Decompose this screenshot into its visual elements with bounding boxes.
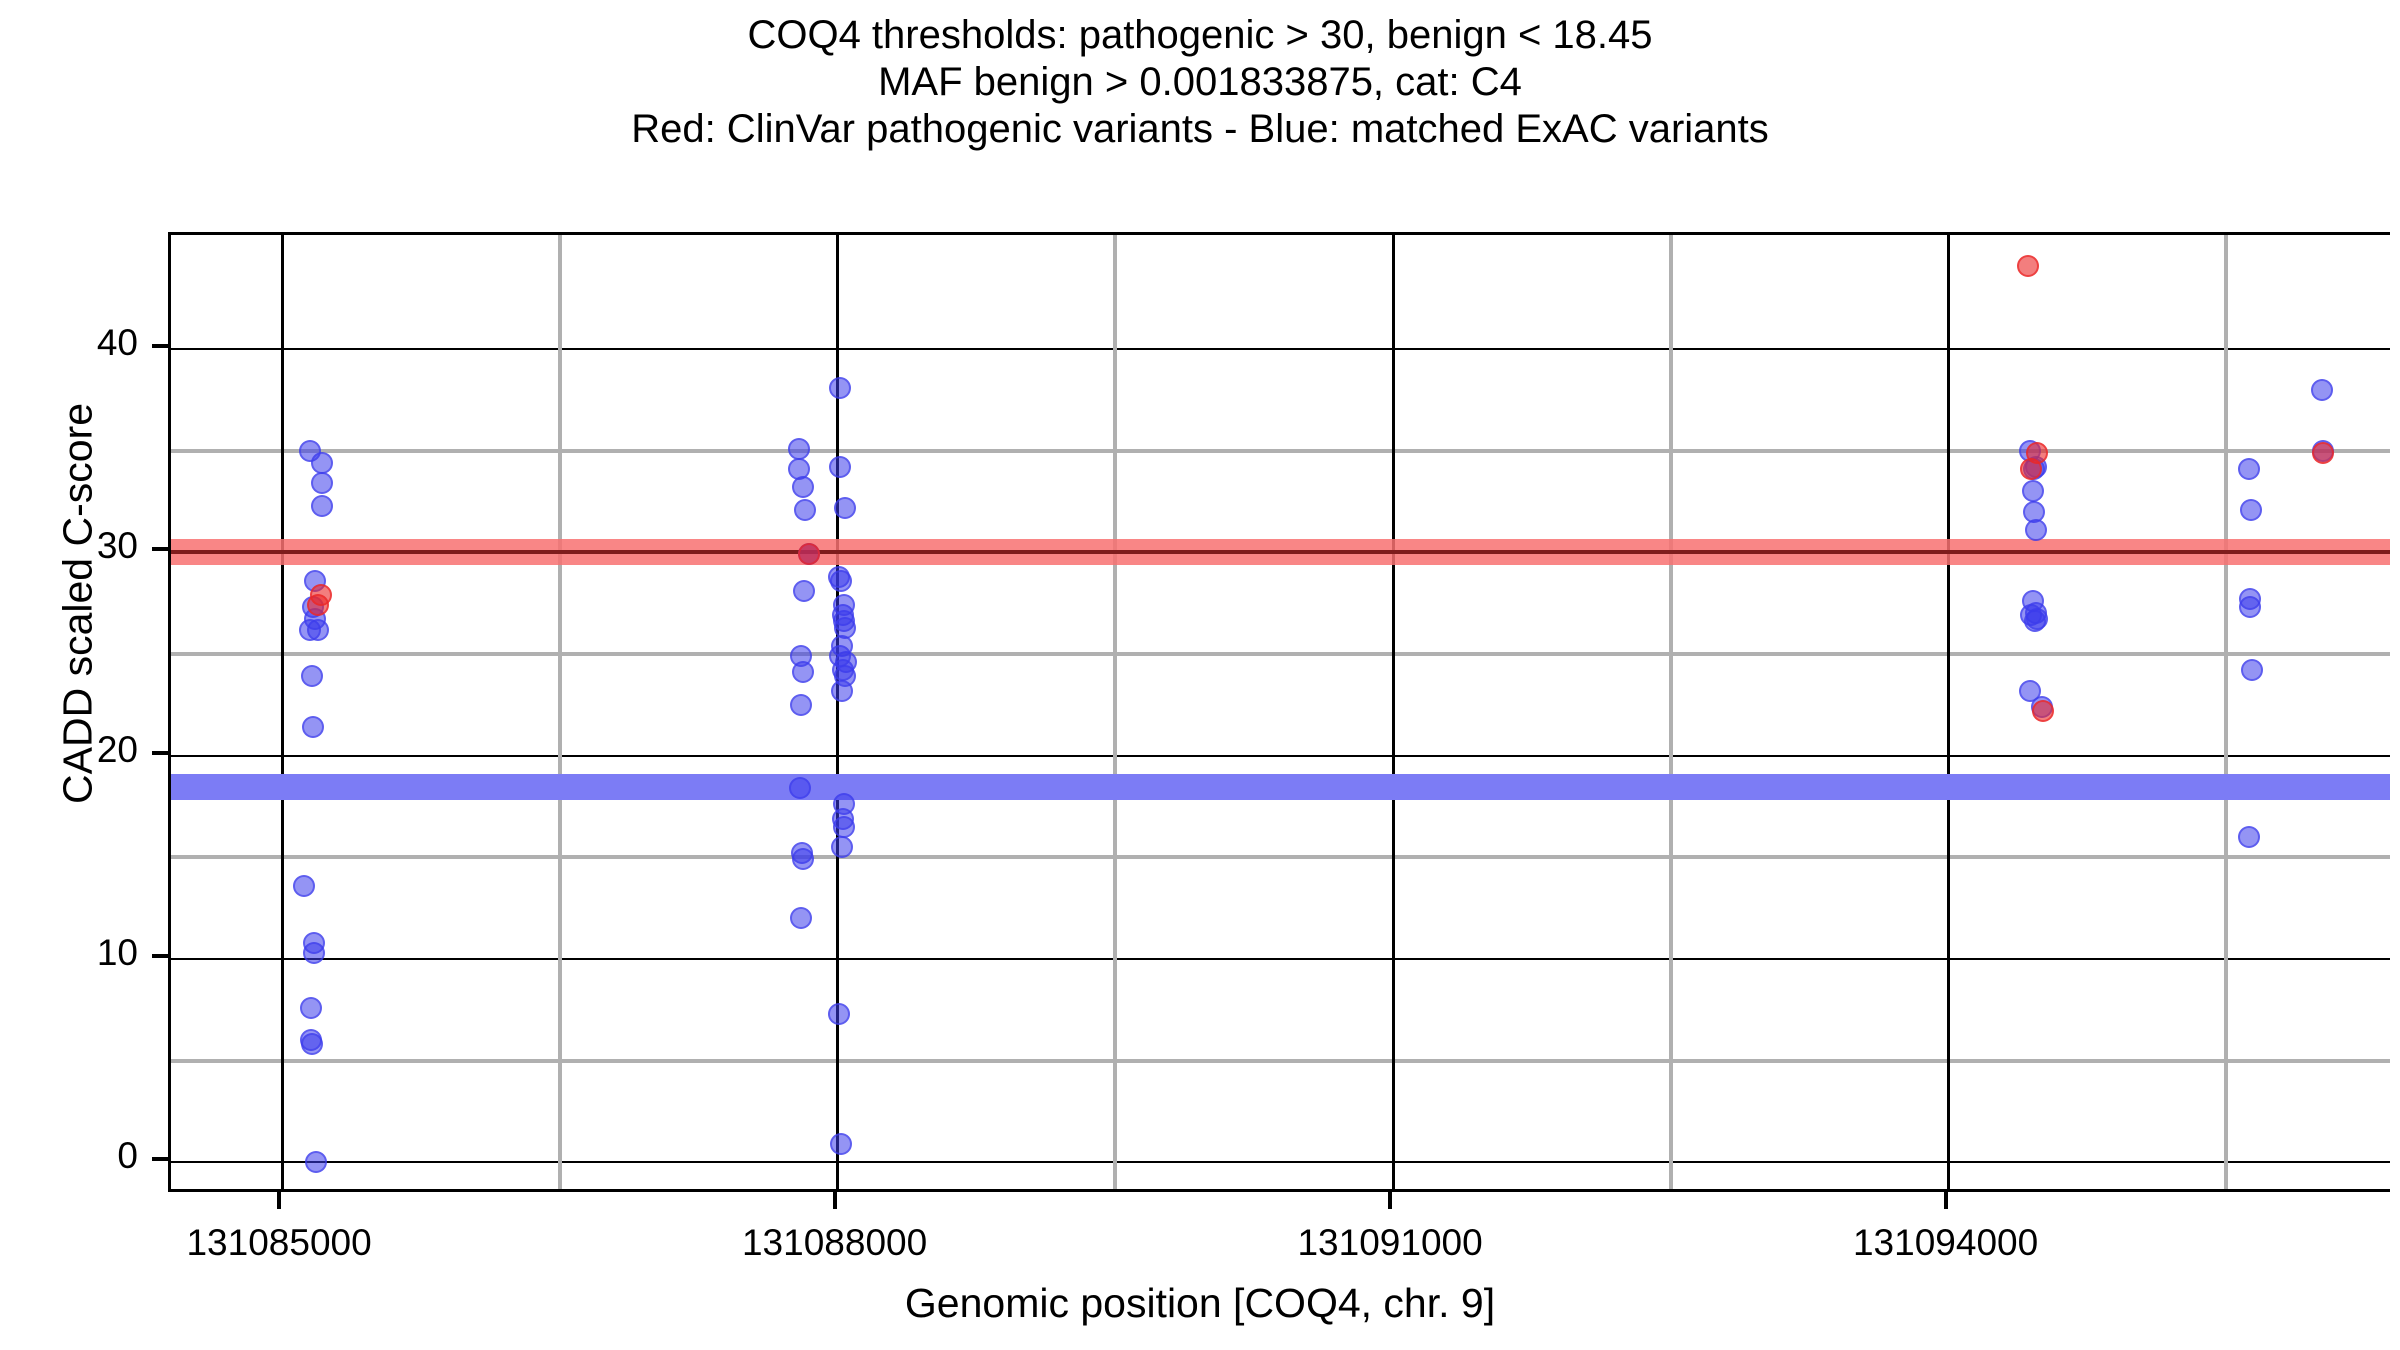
data-point-exac <box>789 777 811 799</box>
data-point-exac <box>792 848 814 870</box>
gridline-vertical-major <box>1947 235 1950 1192</box>
y-axis-tick <box>152 954 169 958</box>
chart-page: COQ4 thresholds: pathogenic > 30, benign… <box>0 0 2400 1350</box>
data-point-exac <box>830 1133 852 1155</box>
data-point-exac <box>305 1151 327 1173</box>
data-point-exac <box>2026 608 2048 630</box>
x-axis-tick-label: 131091000 <box>1230 1222 1550 1264</box>
data-point-exac <box>2025 519 2047 541</box>
data-point-exac <box>2240 499 2262 521</box>
data-point-exac <box>303 942 325 964</box>
data-point-exac <box>828 1003 850 1025</box>
data-point-pathogenic <box>2026 442 2048 464</box>
x-axis-tick-label: 131094000 <box>1786 1222 2106 1264</box>
gridline-horizontal-major <box>171 348 2390 350</box>
data-point-exac <box>829 456 851 478</box>
gridline-vertical-major <box>1392 235 1395 1192</box>
data-point-exac <box>834 497 856 519</box>
gridline-horizontal <box>171 652 2390 656</box>
pathogenic-threshold-line <box>171 550 2390 554</box>
data-point-exac <box>794 499 816 521</box>
gridline-vertical <box>2224 235 2228 1192</box>
data-point-exac <box>2238 458 2260 480</box>
data-point-exac <box>2241 659 2263 681</box>
benign-threshold-band <box>171 774 2390 800</box>
chart-title-line-1: COQ4 thresholds: pathogenic > 30, benign… <box>0 12 2400 59</box>
data-point-exac <box>311 495 333 517</box>
data-point-exac <box>2239 596 2261 618</box>
gridline-horizontal <box>171 449 2390 453</box>
data-point-exac <box>2311 379 2333 401</box>
x-axis-tick <box>833 1192 837 1209</box>
data-point-exac <box>788 438 810 460</box>
gridline-vertical <box>1669 235 1673 1192</box>
data-point-pathogenic <box>2032 700 2054 722</box>
x-axis-tick <box>277 1192 281 1209</box>
data-point-pathogenic <box>307 594 329 616</box>
data-point-exac <box>2238 826 2260 848</box>
x-axis-label: Genomic position [COQ4, chr. 9] <box>0 1280 2400 1327</box>
plot-area <box>168 232 2390 1192</box>
data-point-exac <box>833 816 855 838</box>
x-axis-tick-label: 131088000 <box>675 1222 995 1264</box>
y-axis-tick <box>152 1157 169 1161</box>
data-point-exac <box>302 716 324 738</box>
data-point-exac <box>793 580 815 602</box>
data-point-exac <box>792 661 814 683</box>
data-point-exac <box>831 680 853 702</box>
x-axis-tick <box>1388 1192 1392 1209</box>
data-point-pathogenic <box>2017 255 2039 277</box>
x-axis-tick <box>1944 1192 1948 1209</box>
data-point-exac <box>829 377 851 399</box>
data-point-exac <box>311 472 333 494</box>
chart-title: COQ4 thresholds: pathogenic > 30, benign… <box>0 12 2400 153</box>
data-point-exac <box>301 1033 323 1055</box>
data-point-exac <box>790 907 812 929</box>
gridline-horizontal <box>171 1059 2390 1063</box>
y-axis-label: CADD scaled C-score <box>55 214 102 994</box>
data-point-exac <box>293 875 315 897</box>
chart-title-line-2: MAF benign > 0.001833875, cat: C4 <box>0 59 2400 106</box>
gridline-horizontal <box>171 855 2390 859</box>
gridline-vertical <box>1113 235 1117 1192</box>
data-point-exac <box>300 997 322 1019</box>
y-axis-tick <box>152 751 169 755</box>
gridline-vertical-major <box>281 235 284 1192</box>
gridline-horizontal-major <box>171 755 2390 757</box>
gridline-horizontal-major <box>171 958 2390 960</box>
data-point-exac <box>790 694 812 716</box>
data-point-exac <box>311 452 333 474</box>
x-axis-tick-label: 131085000 <box>119 1222 439 1264</box>
data-point-exac <box>307 619 329 641</box>
plot-inner <box>171 235 2390 1189</box>
y-axis-tick <box>152 344 169 348</box>
y-axis-tick-label: 0 <box>0 1135 138 1177</box>
gridline-vertical <box>558 235 562 1192</box>
data-point-exac <box>830 570 852 592</box>
data-point-exac <box>2022 480 2044 502</box>
data-point-exac <box>792 476 814 498</box>
gridline-horizontal-major <box>171 1161 2390 1163</box>
chart-title-line-3: Red: ClinVar pathogenic variants - Blue:… <box>0 106 2400 153</box>
data-point-exac <box>301 665 323 687</box>
data-point-pathogenic <box>2312 442 2334 464</box>
y-axis-tick <box>152 547 169 551</box>
